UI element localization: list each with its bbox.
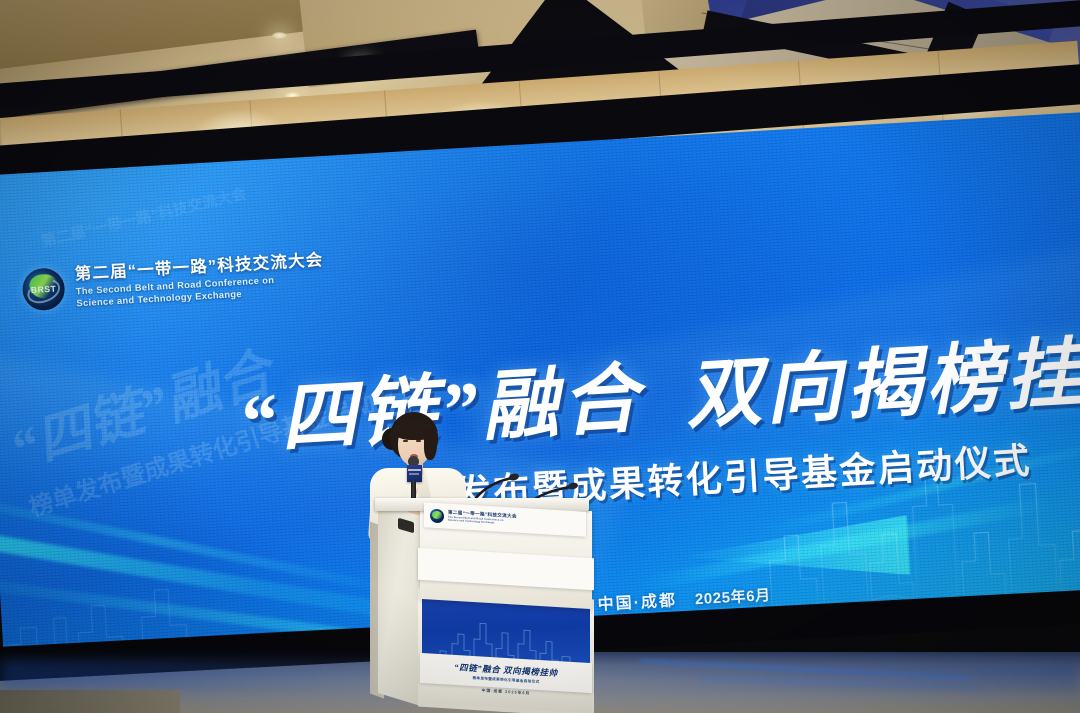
brst-globe-icon: BRST xyxy=(21,267,65,311)
podium-logo-text: 第二届“一带一路”科技交流大会 The Second Belt and Road… xyxy=(448,510,517,526)
event-date: 2025年6月 xyxy=(694,587,771,608)
speaker-hair-side xyxy=(424,428,437,460)
conference-stage-photo: “四链”融合 榜单发布暨成果转化引导基金启动仪式 第二届“一带一路”科技交流大会… xyxy=(0,0,1080,713)
podium-brst-globe-icon xyxy=(430,508,444,523)
mic-flag-line xyxy=(409,473,419,475)
podium-event-title: “四链”融合 双向揭榜挂帅 xyxy=(454,660,557,678)
headline-part-2: 双向揭榜挂帅 xyxy=(683,327,1080,438)
speaker-eye-right xyxy=(416,440,421,442)
podium-emblem-swoosh xyxy=(432,510,442,519)
podium-lectern: 第二届“一带一路”科技交流大会 The Second Belt and Road… xyxy=(370,498,598,713)
mic-flag-line xyxy=(408,469,421,471)
emblem-label: BRST xyxy=(22,283,65,295)
mic-branding-flag xyxy=(407,465,422,482)
ceiling-downlight xyxy=(272,32,287,39)
floor-front-edge xyxy=(0,690,180,713)
speaker-eye-left xyxy=(403,440,408,442)
event-location: 中国·成都 xyxy=(597,592,677,614)
